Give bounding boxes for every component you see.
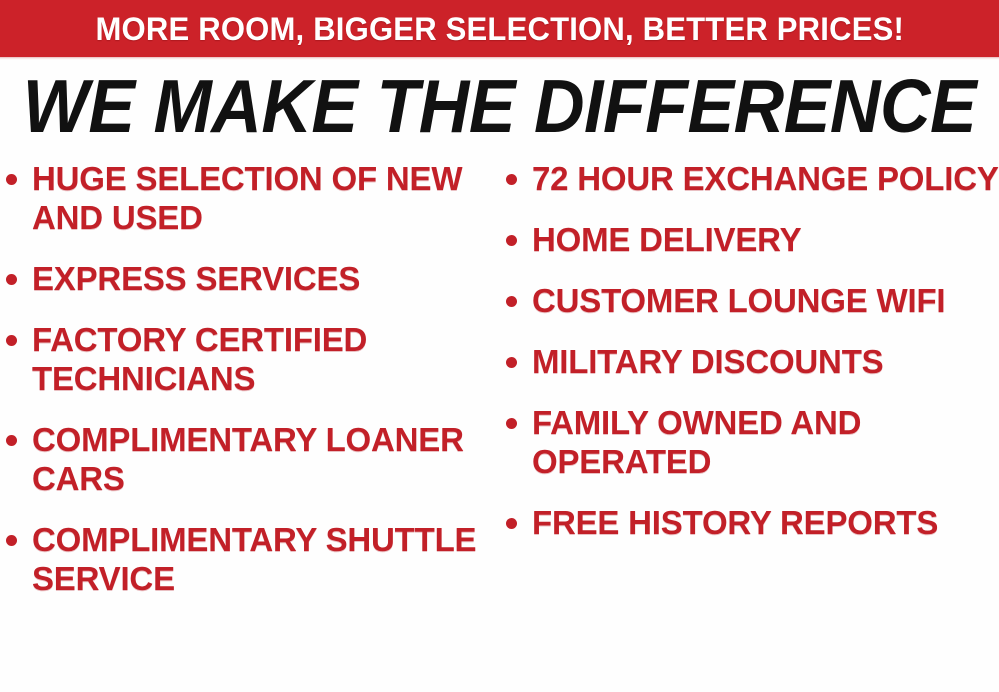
feature-column-left: HUGE SELECTION OF NEW AND USED EXPRESS S… [6,160,502,620]
bullet-dot-icon [6,335,17,346]
list-item-label: FREE HISTORY REPORTS [532,504,999,543]
promo-banner-text: MORE ROOM, BIGGER SELECTION, BETTER PRIC… [95,13,904,45]
list-item-label: COMPLIMENTARY LOANER CARS [32,421,502,499]
list-item: 72 HOUR EXCHANGE POLICY [506,160,999,199]
bullet-dot-icon [506,235,517,246]
bullet-dot-icon [6,274,17,285]
bullet-dot-icon [506,174,517,185]
feature-column-right: 72 HOUR EXCHANGE POLICY HOME DELIVERY CU… [506,160,999,565]
bullet-dot-icon [506,518,517,529]
list-item-label: HUGE SELECTION OF NEW AND USED [32,160,502,238]
list-item-label: COMPLIMENTARY SHUTTLE SERVICE [32,521,502,599]
feature-columns: HUGE SELECTION OF NEW AND USED EXPRESS S… [0,160,999,690]
list-item: FACTORY CERTIFIED TECHNICIANS [6,321,502,399]
list-item-label: CUSTOMER LOUNGE WIFI [532,282,999,321]
headline: WE MAKE THE DIFFERENCE [0,66,999,146]
list-item: EXPRESS SERVICES [6,260,502,299]
bullet-dot-icon [6,435,17,446]
advertisement-banner: MORE ROOM, BIGGER SELECTION, BETTER PRIC… [0,0,999,692]
list-item-label: 72 HOUR EXCHANGE POLICY [532,160,999,199]
headline-text: WE MAKE THE DIFFERENCE [23,68,976,144]
list-item-label: EXPRESS SERVICES [32,260,502,299]
list-item-label: HOME DELIVERY [532,221,999,260]
list-item: COMPLIMENTARY LOANER CARS [6,421,502,499]
list-item: HUGE SELECTION OF NEW AND USED [6,160,502,238]
list-item-label: FACTORY CERTIFIED TECHNICIANS [32,321,502,399]
list-item: MILITARY DISCOUNTS [506,343,999,382]
promo-banner: MORE ROOM, BIGGER SELECTION, BETTER PRIC… [0,0,999,57]
bullet-dot-icon [506,418,517,429]
bullet-dot-icon [6,174,17,185]
list-item: COMPLIMENTARY SHUTTLE SERVICE [6,521,502,599]
list-item: CUSTOMER LOUNGE WIFI [506,282,999,321]
bullet-dot-icon [6,535,17,546]
banner-seam-divider [0,57,999,60]
bullet-dot-icon [506,296,517,307]
list-item: FAMILY OWNED AND OPERATED [506,404,999,482]
list-item-label: FAMILY OWNED AND OPERATED [532,404,999,482]
list-item: HOME DELIVERY [506,221,999,260]
list-item-label: MILITARY DISCOUNTS [532,343,999,382]
bullet-dot-icon [506,357,517,368]
list-item: FREE HISTORY REPORTS [506,504,999,543]
